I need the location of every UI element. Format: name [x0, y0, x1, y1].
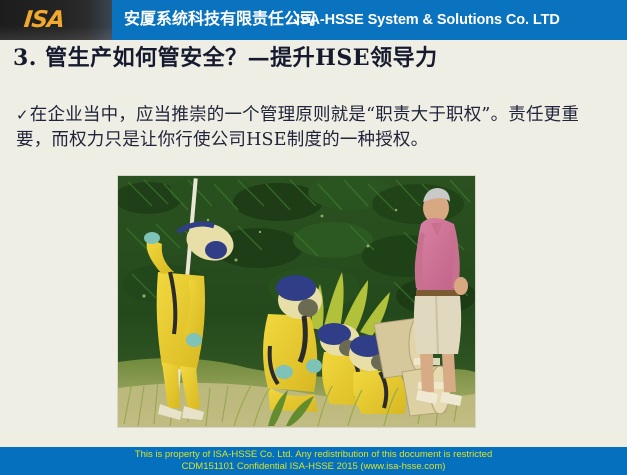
- slide-canvas: ISA 安厦系统科技有限责任公司 ISA-HSSE System & Solut…: [0, 0, 627, 475]
- header-company-name-en: ISA-HSSE System & Solutions Co. LTD: [296, 10, 560, 30]
- slide-header-band: ISA 安厦系统科技有限责任公司 ISA-HSSE System & Solut…: [0, 0, 627, 40]
- body-paragraph: ✓在企业当中，应当推崇的一个管理原则就是“职责大于职权”。责任更重要，而权力只是…: [16, 103, 612, 153]
- checkmark-icon: ✓: [16, 106, 30, 124]
- slide-footer: This is property of ISA-HSSE Co. Ltd. An…: [0, 447, 627, 475]
- footer-document-id-line: CDM151101 Confidential ISA-HSSE 2015 (ww…: [0, 461, 627, 473]
- photo-illustration: [118, 176, 475, 427]
- header-company-name-cn: 安厦系统科技有限责任公司: [124, 8, 316, 30]
- page-title: 3. 管生产如何管安全？—提升HSE领导力: [13, 43, 438, 73]
- slide-photo: [118, 176, 475, 427]
- isa-logo: ISA: [23, 7, 66, 33]
- body-paragraph-text: 在企业当中，应当推崇的一个管理原则就是“职责大于职权”。责任更重要，而权力只是让…: [16, 105, 579, 150]
- footer-copyright-line: This is property of ISA-HSSE Co. Ltd. An…: [0, 449, 627, 461]
